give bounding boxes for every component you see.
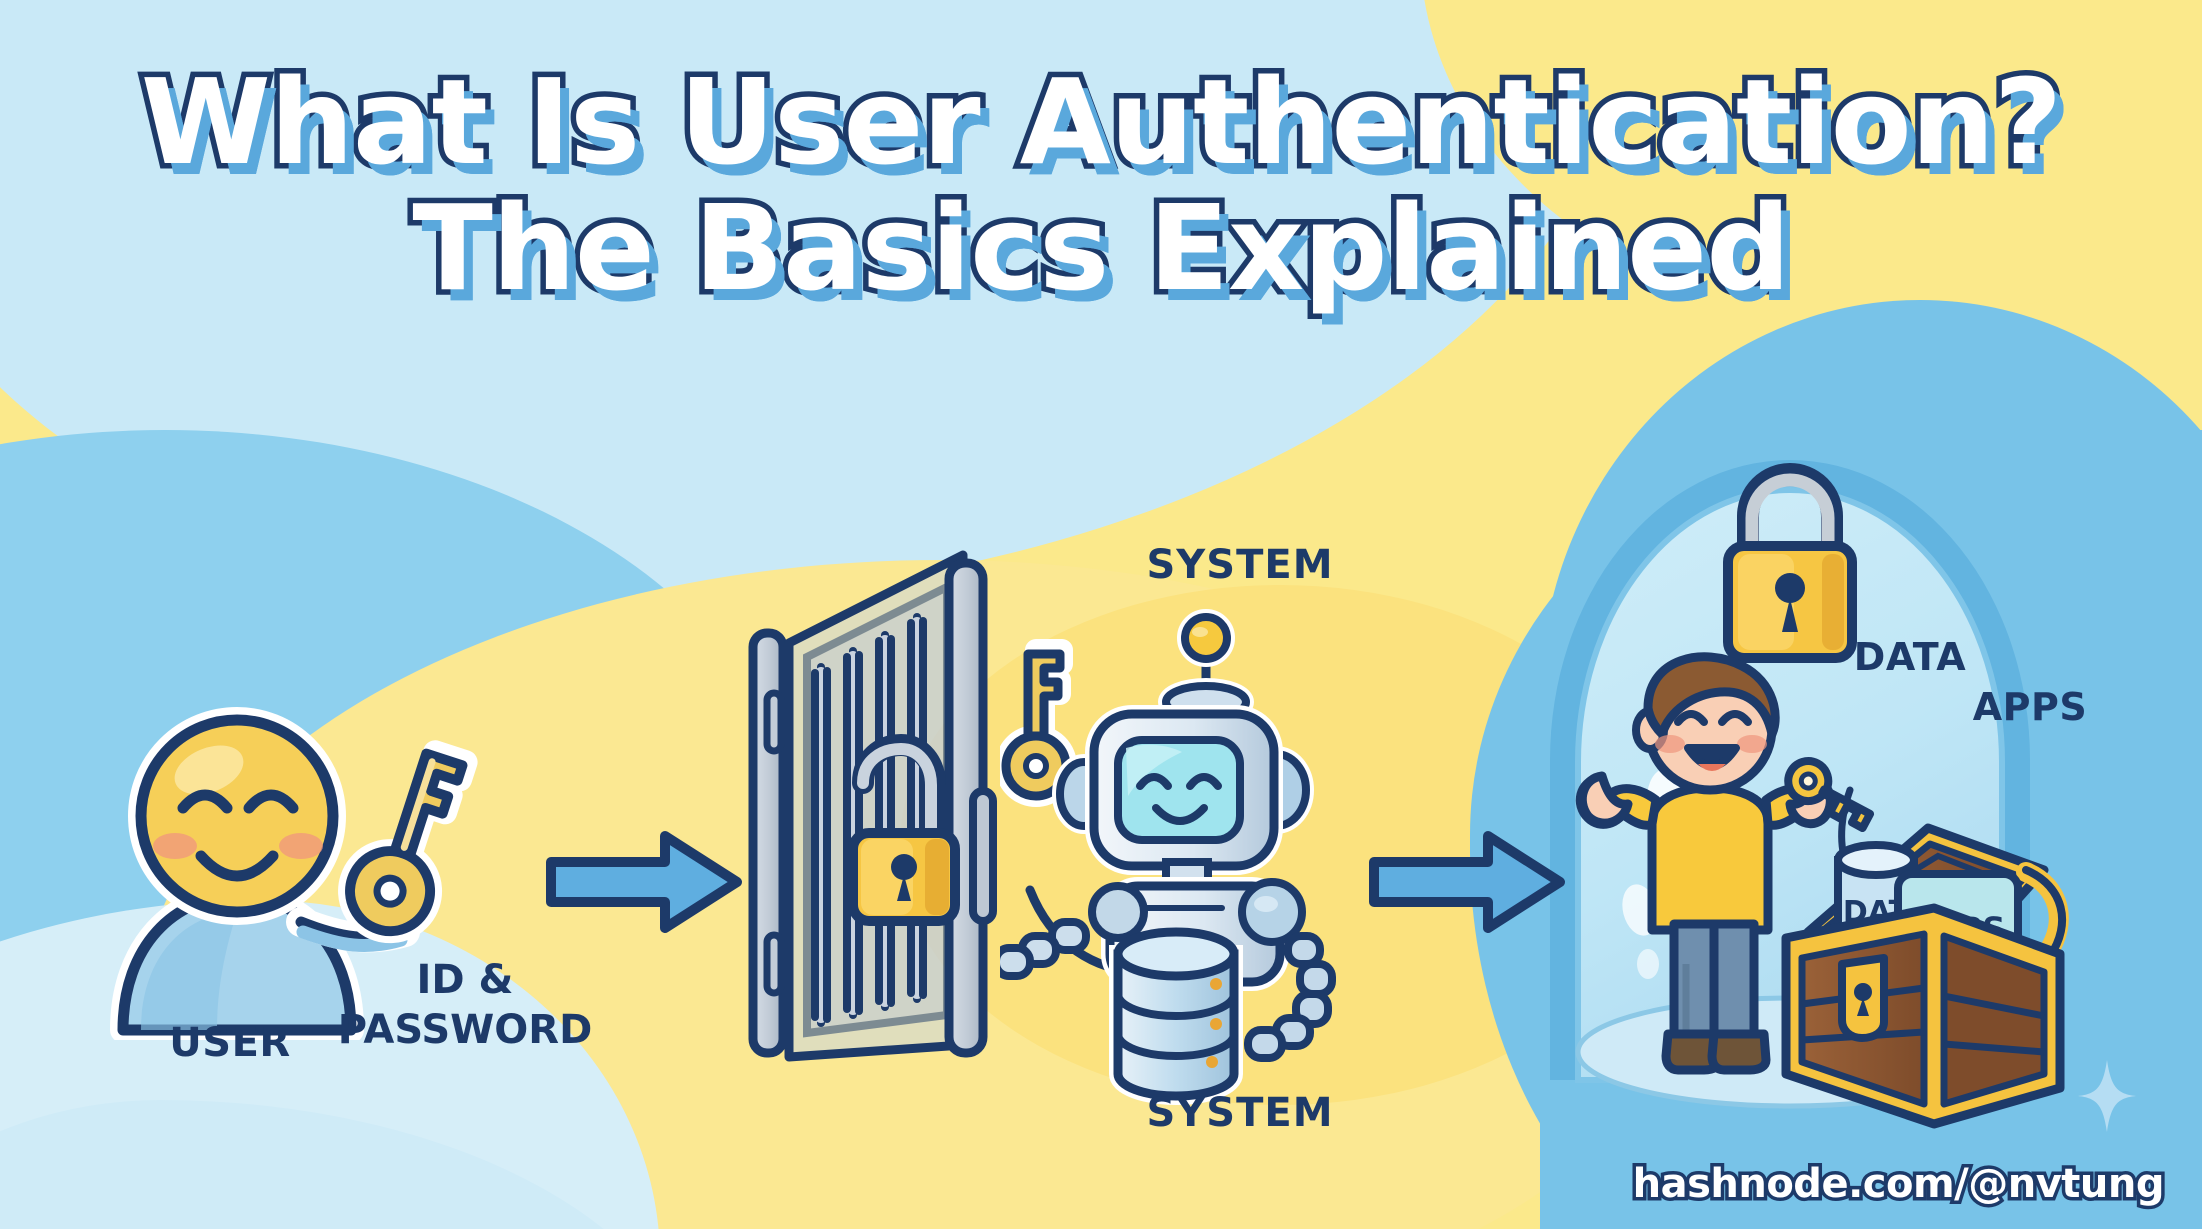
stage-gate (745, 545, 1015, 1115)
background-shape-pale-bottomstrip (0, 1100, 700, 1229)
label-id-line: ID & (330, 955, 600, 1005)
gate-icon (745, 545, 1015, 1115)
key-icon (340, 740, 474, 942)
sparkle-icon (2078, 1060, 2136, 1132)
arrow-system-to-vault (1368, 828, 1568, 936)
arrow-user-to-gate (545, 828, 745, 936)
label-user: USER (120, 1020, 340, 1066)
title-line-1: What Is User Authentication? (0, 62, 2202, 182)
label-system-top: SYSTEM (1090, 542, 1390, 588)
label-password-line: PASSWORD (330, 1005, 600, 1055)
page-title: What Is User Authentication? The Basics … (0, 62, 2202, 309)
database-icon (1118, 932, 1234, 1096)
stage-vault: DAT APPS (1520, 440, 2180, 1130)
infographic-canvas: What Is User Authentication? The Basics … (0, 0, 2202, 1229)
label-data: DATA (1810, 635, 2010, 679)
title-line-2: The Basics Explained (0, 188, 2202, 308)
watermark: hashnode.com/@nvtung (1633, 1161, 2164, 1207)
label-apps: APPS (1925, 685, 2135, 729)
stage-system (1000, 590, 1420, 1110)
label-system-bottom: SYSTEM (1090, 1090, 1390, 1136)
label-id-password: ID & PASSWORD (330, 955, 600, 1055)
